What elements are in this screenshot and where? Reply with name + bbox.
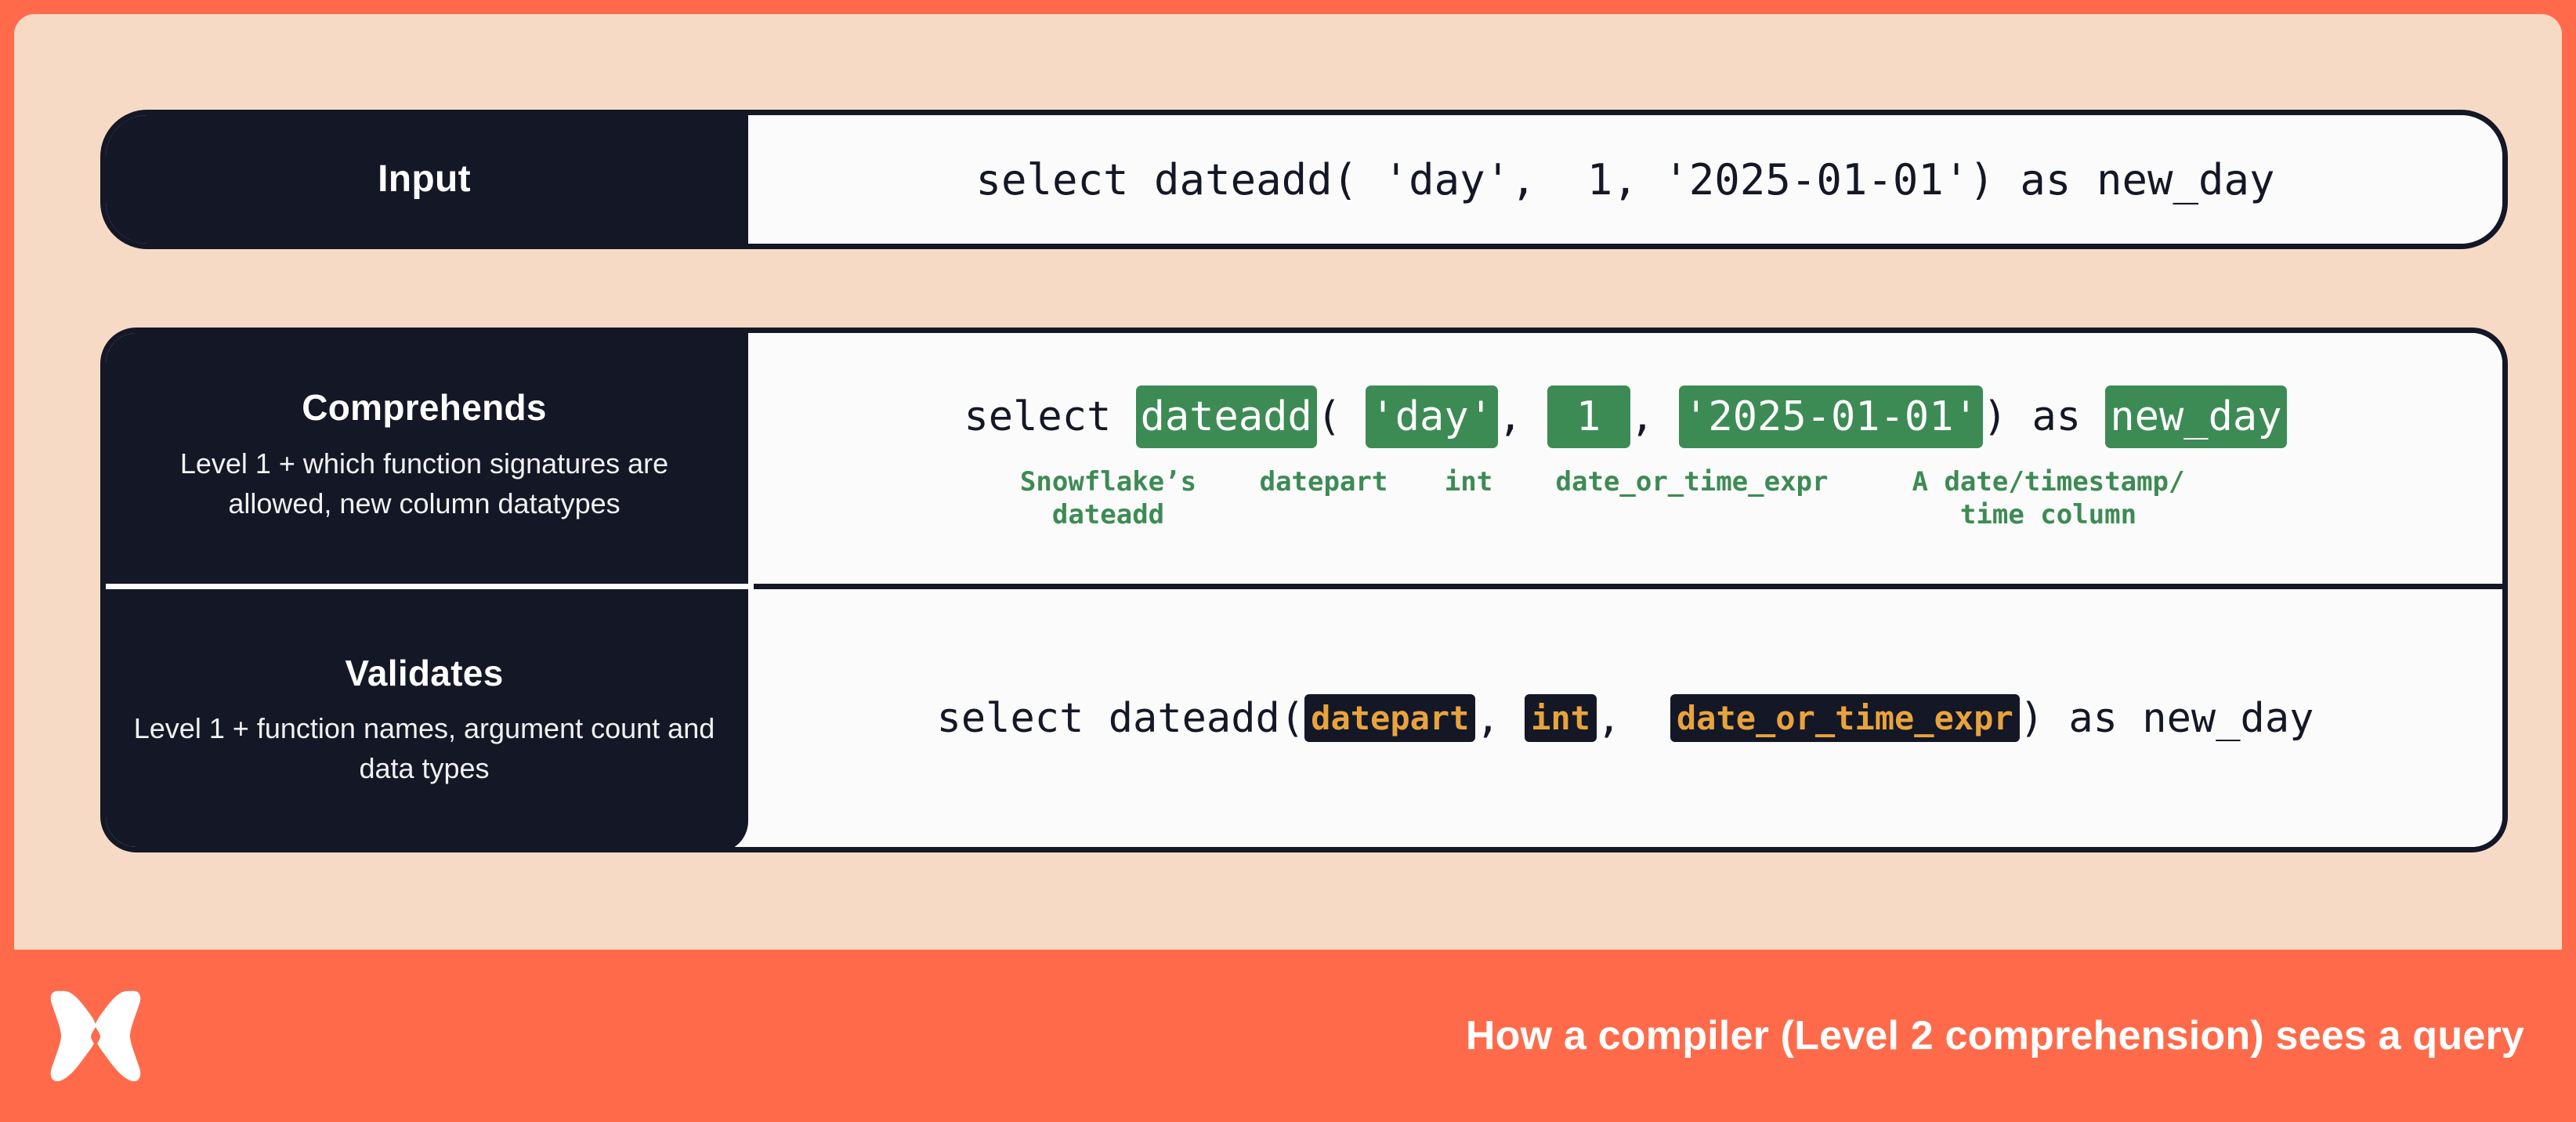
input-code-text: select dateadd( 'day', 1, '2025-01-01') … xyxy=(975,155,2274,204)
validates-token-date-or-time-expr: date_or_time_expr xyxy=(1670,694,2020,742)
annotation-date-or-time-expr: date_or_time_expr xyxy=(1516,465,1869,499)
token-new-day-highlight: new_day xyxy=(2105,385,2286,448)
levels-card: Comprehends Level 1 + which function sig… xyxy=(100,328,2508,852)
input-code-cell: select dateadd( 'day', 1, '2025-01-01') … xyxy=(748,115,2502,244)
token-select: select xyxy=(964,393,1135,440)
input-label-title: Input xyxy=(378,159,471,201)
comprehends-label-description: Level 1 + which function signatures are … xyxy=(132,443,717,523)
poster-root: Input select dateadd( 'day', 1, '2025-01… xyxy=(0,0,2576,1122)
token-comma-2: , xyxy=(1630,393,1680,440)
token-date-highlight: '2025-01-01' xyxy=(1679,385,1983,448)
token-as: as xyxy=(2031,393,2105,440)
comprehends-label-title: Comprehends xyxy=(302,388,547,428)
divider-right-segment xyxy=(754,584,2502,589)
validates-code-cell: select dateadd(datepart, int, date_or_ti… xyxy=(748,589,2502,847)
validates-token-comma-2: , xyxy=(1597,695,1670,742)
validates-label-description: Level 1 + function names, argument count… xyxy=(132,708,717,788)
validates-token-comma-1: , xyxy=(1475,695,1525,742)
validates-label-title: Validates xyxy=(345,653,503,693)
input-label-cell: Input xyxy=(100,110,748,249)
validates-code-line: select dateadd(datepart, int, date_or_ti… xyxy=(937,694,2314,742)
butterfly-x-logo-icon xyxy=(49,986,143,1085)
validates-token-tail: ) as new_day xyxy=(2020,695,2314,742)
comprehends-row: Comprehends Level 1 + which function sig… xyxy=(106,333,2502,584)
validates-token-datepart: datepart xyxy=(1304,694,1475,742)
token-open-paren: ( xyxy=(1317,393,1366,440)
input-code-line: select dateadd( 'day', 1, '2025-01-01') … xyxy=(975,155,2274,204)
comprehends-code-cell: select dateadd( 'day', 1 , '2025-01-01')… xyxy=(748,333,2502,584)
validates-token-select: select dateadd( xyxy=(937,695,1305,742)
footer-caption: How a compiler (Level 2 comprehension) s… xyxy=(1466,1012,2524,1059)
annotation-int: int xyxy=(1422,465,1516,499)
annotation-dateadd: Snowflake’s dateadd xyxy=(991,465,1226,532)
comprehends-code-line: select dateadd( 'day', 1 , '2025-01-01')… xyxy=(964,385,2286,448)
content-panel: Input select dateadd( 'day', 1, '2025-01… xyxy=(14,14,2562,950)
token-close-paren: ) xyxy=(1983,393,2032,440)
annotation-datepart: datepart xyxy=(1226,465,1422,499)
row-divider xyxy=(106,584,2502,589)
divider-left-segment xyxy=(106,584,754,589)
token-comma-1: , xyxy=(1498,393,1547,440)
comprehends-annotations: Snowflake’s dateadd datepart int date_or… xyxy=(1022,465,2229,532)
token-day-highlight: 'day' xyxy=(1366,385,1498,448)
comprehends-label-cell: Comprehends Level 1 + which function sig… xyxy=(100,328,748,584)
validates-label-cell: Validates Level 1 + function names, argu… xyxy=(100,589,748,852)
validates-row: Validates Level 1 + function names, argu… xyxy=(106,589,2502,847)
input-card: Input select dateadd( 'day', 1, '2025-01… xyxy=(100,110,2508,249)
footer-bar: How a compiler (Level 2 comprehension) s… xyxy=(0,950,2576,1122)
token-dateadd-highlight: dateadd xyxy=(1136,385,1317,448)
token-one-highlight: 1 xyxy=(1547,385,1630,448)
annotation-date-timestamp-column: A date/timestamp/ time column xyxy=(1869,465,2229,532)
validates-token-int: int xyxy=(1525,694,1597,742)
